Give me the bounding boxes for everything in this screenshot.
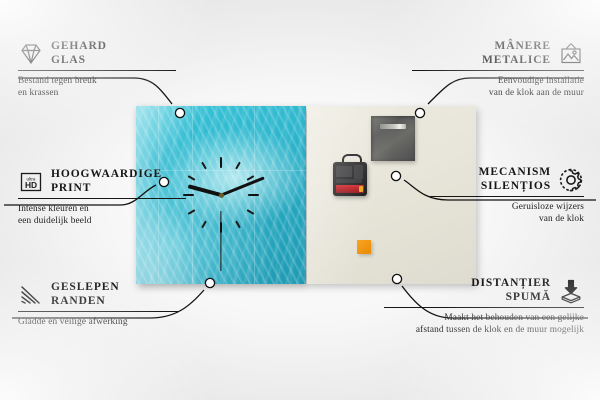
callout-divider [430,196,584,197]
callout-description: Intense kleuren eneen duidelijk beeld [18,203,188,227]
beveled-edge-icon [18,282,44,308]
callout-header: ultra HD HOOGWAARDIGEPRINT [18,168,188,195]
callout-hoogwaardige-print: ultra HD HOOGWAARDIGEPRINT Intense kleur… [18,168,188,227]
clock-center-cap [219,193,224,198]
callout-description: Gladde en veilige afwerking [18,316,178,328]
infographic-canvas: GEHARDGLAS Bestand tegen breuken krassen… [0,0,600,400]
ultra-hd-icon: ultra HD [18,169,44,195]
callout-divider [384,307,584,308]
callout-header: MECANISMSILENȚIOS [430,166,584,193]
callout-gehard-glas: GEHARDGLAS Bestand tegen breuken krassen [18,40,178,99]
callout-title: GEHARDGLAS [51,40,107,67]
diamond-icon [18,41,44,67]
callout-header: DISTANȚIERSPUMĂ [384,277,584,304]
hanger-slot [380,124,406,129]
callout-header: MÂNEREMETALICE [412,40,584,67]
callout-title: GESLEPENRANDEN [51,281,120,308]
mechanism-detail [336,179,362,183]
callout-divider [18,198,186,199]
mechanism-hook [342,154,362,165]
callout-description: Bestand tegen breuken krassen [18,75,178,99]
clock-mechanism [333,162,367,196]
gear-icon [558,167,584,193]
picture-hanger-icon [558,41,584,67]
battery-terminal [359,186,363,192]
callout-manere-metalice: MÂNEREMETALICE Eenvoudige installatievan… [412,40,584,99]
callout-description: Eenvoudige installatievan de klok aan de… [412,75,584,99]
callout-divider [412,70,584,71]
callout-title: MECANISMSILENȚIOS [479,166,551,193]
callout-description: Geruisloze wijzersvan de klok [430,201,584,225]
metal-hanger [371,116,415,161]
mechanism-detail [336,166,352,177]
spacer-arrow-icon [558,278,584,304]
callout-description: Maakt het behouden van een gelijkeafstan… [384,312,584,336]
foam-spacer [357,240,371,254]
battery [336,185,364,193]
svg-text:HD: HD [25,180,37,190]
mechanism-detail [354,165,363,179]
callout-divider [18,70,176,71]
callout-header: GEHARDGLAS [18,40,178,67]
callout-header: GESLEPENRANDEN [18,281,178,308]
callout-geslepen-randen: GESLEPENRANDEN Gladde en veilige afwerki… [18,281,178,328]
callout-title: DISTANȚIERSPUMĂ [471,277,551,304]
callout-divider [18,311,178,312]
callout-title: HOOGWAARDIGEPRINT [51,168,162,195]
callout-distantier-spuma: DISTANȚIERSPUMĂ Maakt het behouden van e… [384,277,584,336]
callout-title: MÂNEREMETALICE [482,40,551,67]
callout-mecanism-silentios: MECANISMSILENȚIOS Geruisloze wijzersvan … [430,166,584,225]
